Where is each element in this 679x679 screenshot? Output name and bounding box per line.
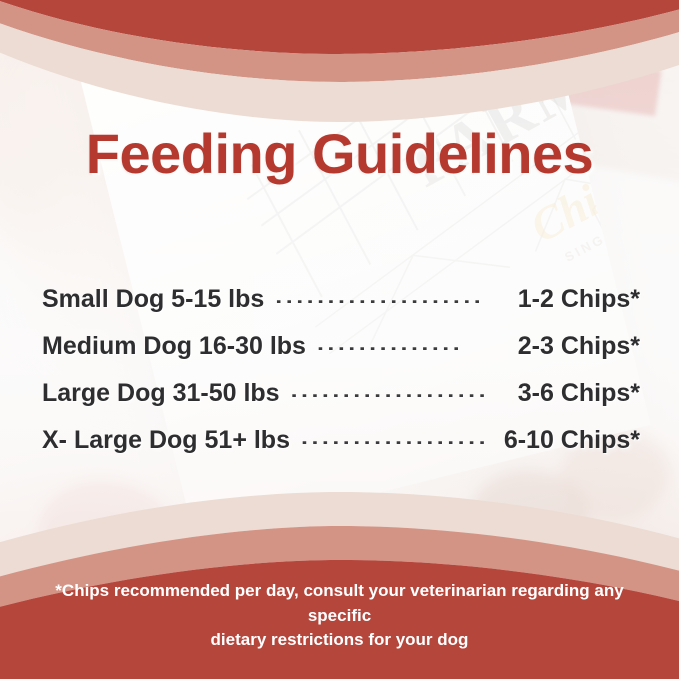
- feeding-guidelines-card: Value Bag NEW: [0, 0, 679, 679]
- table-row: Small Dog 5-15 lbs .................... …: [42, 285, 640, 332]
- row-label: X- Large Dog 51+ lbs: [42, 426, 290, 455]
- row-value: 6-10 Chips*: [504, 426, 640, 455]
- footer-line-1: *Chips recommended per day, consult your…: [26, 579, 653, 628]
- row-value: 2-3 Chips*: [518, 332, 640, 361]
- row-value: 3-6 Chips*: [518, 379, 640, 408]
- row-value: 1-2 Chips*: [518, 285, 640, 314]
- row-dot-leader: ..................: [301, 430, 493, 444]
- table-row: X- Large Dog 51+ lbs .................. …: [42, 426, 640, 473]
- row-label: Small Dog 5-15 lbs: [42, 285, 264, 314]
- row-dot-leader: ..............: [317, 336, 507, 350]
- row-label: Large Dog 31-50 lbs: [42, 379, 280, 408]
- page-title: Feeding Guidelines: [0, 121, 679, 186]
- card-content: Feeding Guidelines Small Dog 5-15 lbs ..…: [0, 0, 679, 679]
- table-row: Medium Dog 16-30 lbs .............. 2-3 …: [42, 332, 640, 379]
- row-dot-leader: ....................: [275, 289, 506, 303]
- footer-disclaimer: *Chips recommended per day, consult your…: [0, 579, 679, 653]
- row-dot-leader: ...................: [291, 383, 507, 397]
- table-row: Large Dog 31-50 lbs ................... …: [42, 379, 640, 426]
- row-label: Medium Dog 16-30 lbs: [42, 332, 306, 361]
- footer-line-2: dietary restrictions for your dog: [26, 628, 653, 653]
- feeding-table: Small Dog 5-15 lbs .................... …: [42, 285, 640, 473]
